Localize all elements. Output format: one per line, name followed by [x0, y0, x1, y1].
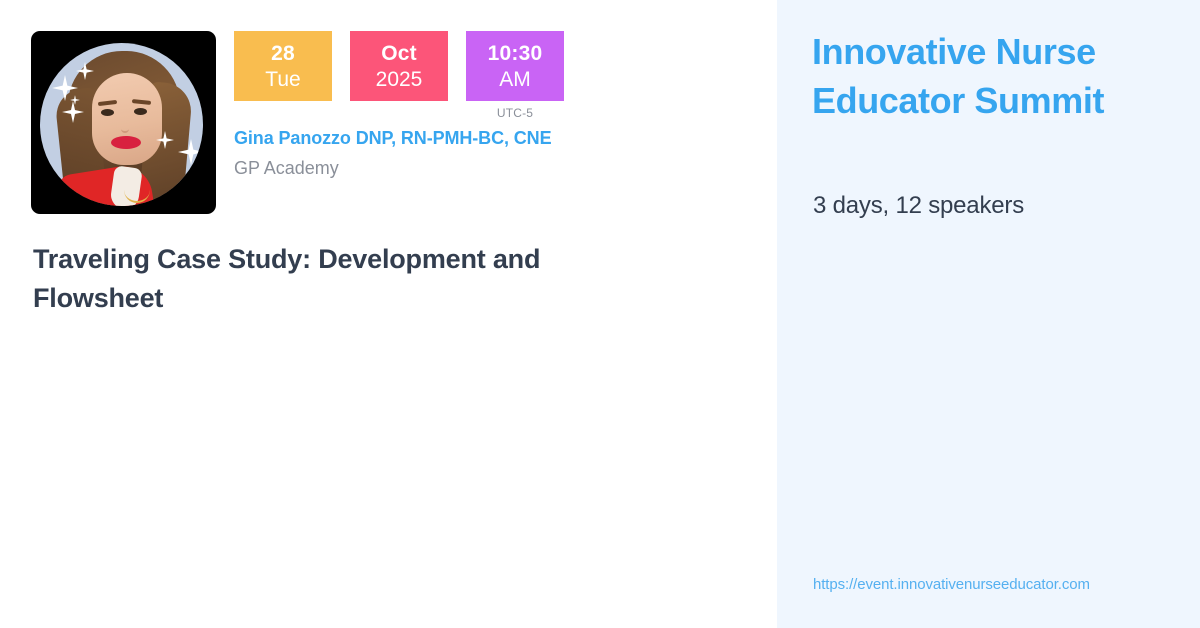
avatar — [31, 31, 216, 214]
session-meta: 28 Tue Oct 2025 10:30 AM — [234, 31, 564, 179]
event-session-card: 28 Tue Oct 2025 10:30 AM — [0, 0, 1200, 628]
event-title: Innovative Nurse Educator Summit — [812, 28, 1172, 125]
time-chip: 10:30 AM — [466, 31, 564, 101]
date-chip-month: Oct 2025 — [350, 31, 448, 101]
date-chip-day-number: 28 — [271, 43, 295, 64]
speaker-organization: GP Academy — [234, 158, 564, 179]
event-url-link[interactable]: https://event.innovativenurseeducator.co… — [813, 576, 1090, 593]
session-title: Traveling Case Study: Development and Fl… — [33, 240, 633, 318]
session-panel: 28 Tue Oct 2025 10:30 AM — [0, 0, 777, 628]
avatar-disc — [40, 43, 203, 206]
timezone-label: UTC-5 — [497, 106, 533, 120]
time-chip-clock: 10:30 — [488, 43, 543, 64]
event-subtitle: 3 days, 12 speakers — [813, 192, 1024, 220]
portrait-nose-icon — [121, 121, 129, 133]
date-chip-month-wrap: Oct 2025 — [350, 31, 448, 101]
time-chip-wrap: 10:30 AM UTC-5 — [466, 31, 564, 120]
time-chip-meridiem: AM — [499, 69, 531, 90]
portrait-lips-icon — [111, 136, 141, 149]
date-chip-day: 28 Tue — [234, 31, 332, 101]
date-chip-year: 2025 — [376, 69, 423, 90]
date-chip-month-name: Oct — [381, 43, 417, 64]
portrait-eye-right-icon — [134, 108, 147, 115]
event-panel: Innovative Nurse Educator Summit 3 days,… — [777, 0, 1200, 628]
session-header: 28 Tue Oct 2025 10:30 AM — [31, 31, 564, 214]
portrait-eye-left-icon — [101, 109, 114, 116]
speaker-name: Gina Panozzo DNP, RN-PMH-BC, CNE — [234, 128, 564, 149]
date-chip-day-weekday: Tue — [265, 69, 300, 90]
datetime-chips: 28 Tue Oct 2025 10:30 AM — [234, 31, 564, 120]
date-chip-day-wrap: 28 Tue — [234, 31, 332, 101]
portrait-face-icon — [92, 73, 162, 165]
